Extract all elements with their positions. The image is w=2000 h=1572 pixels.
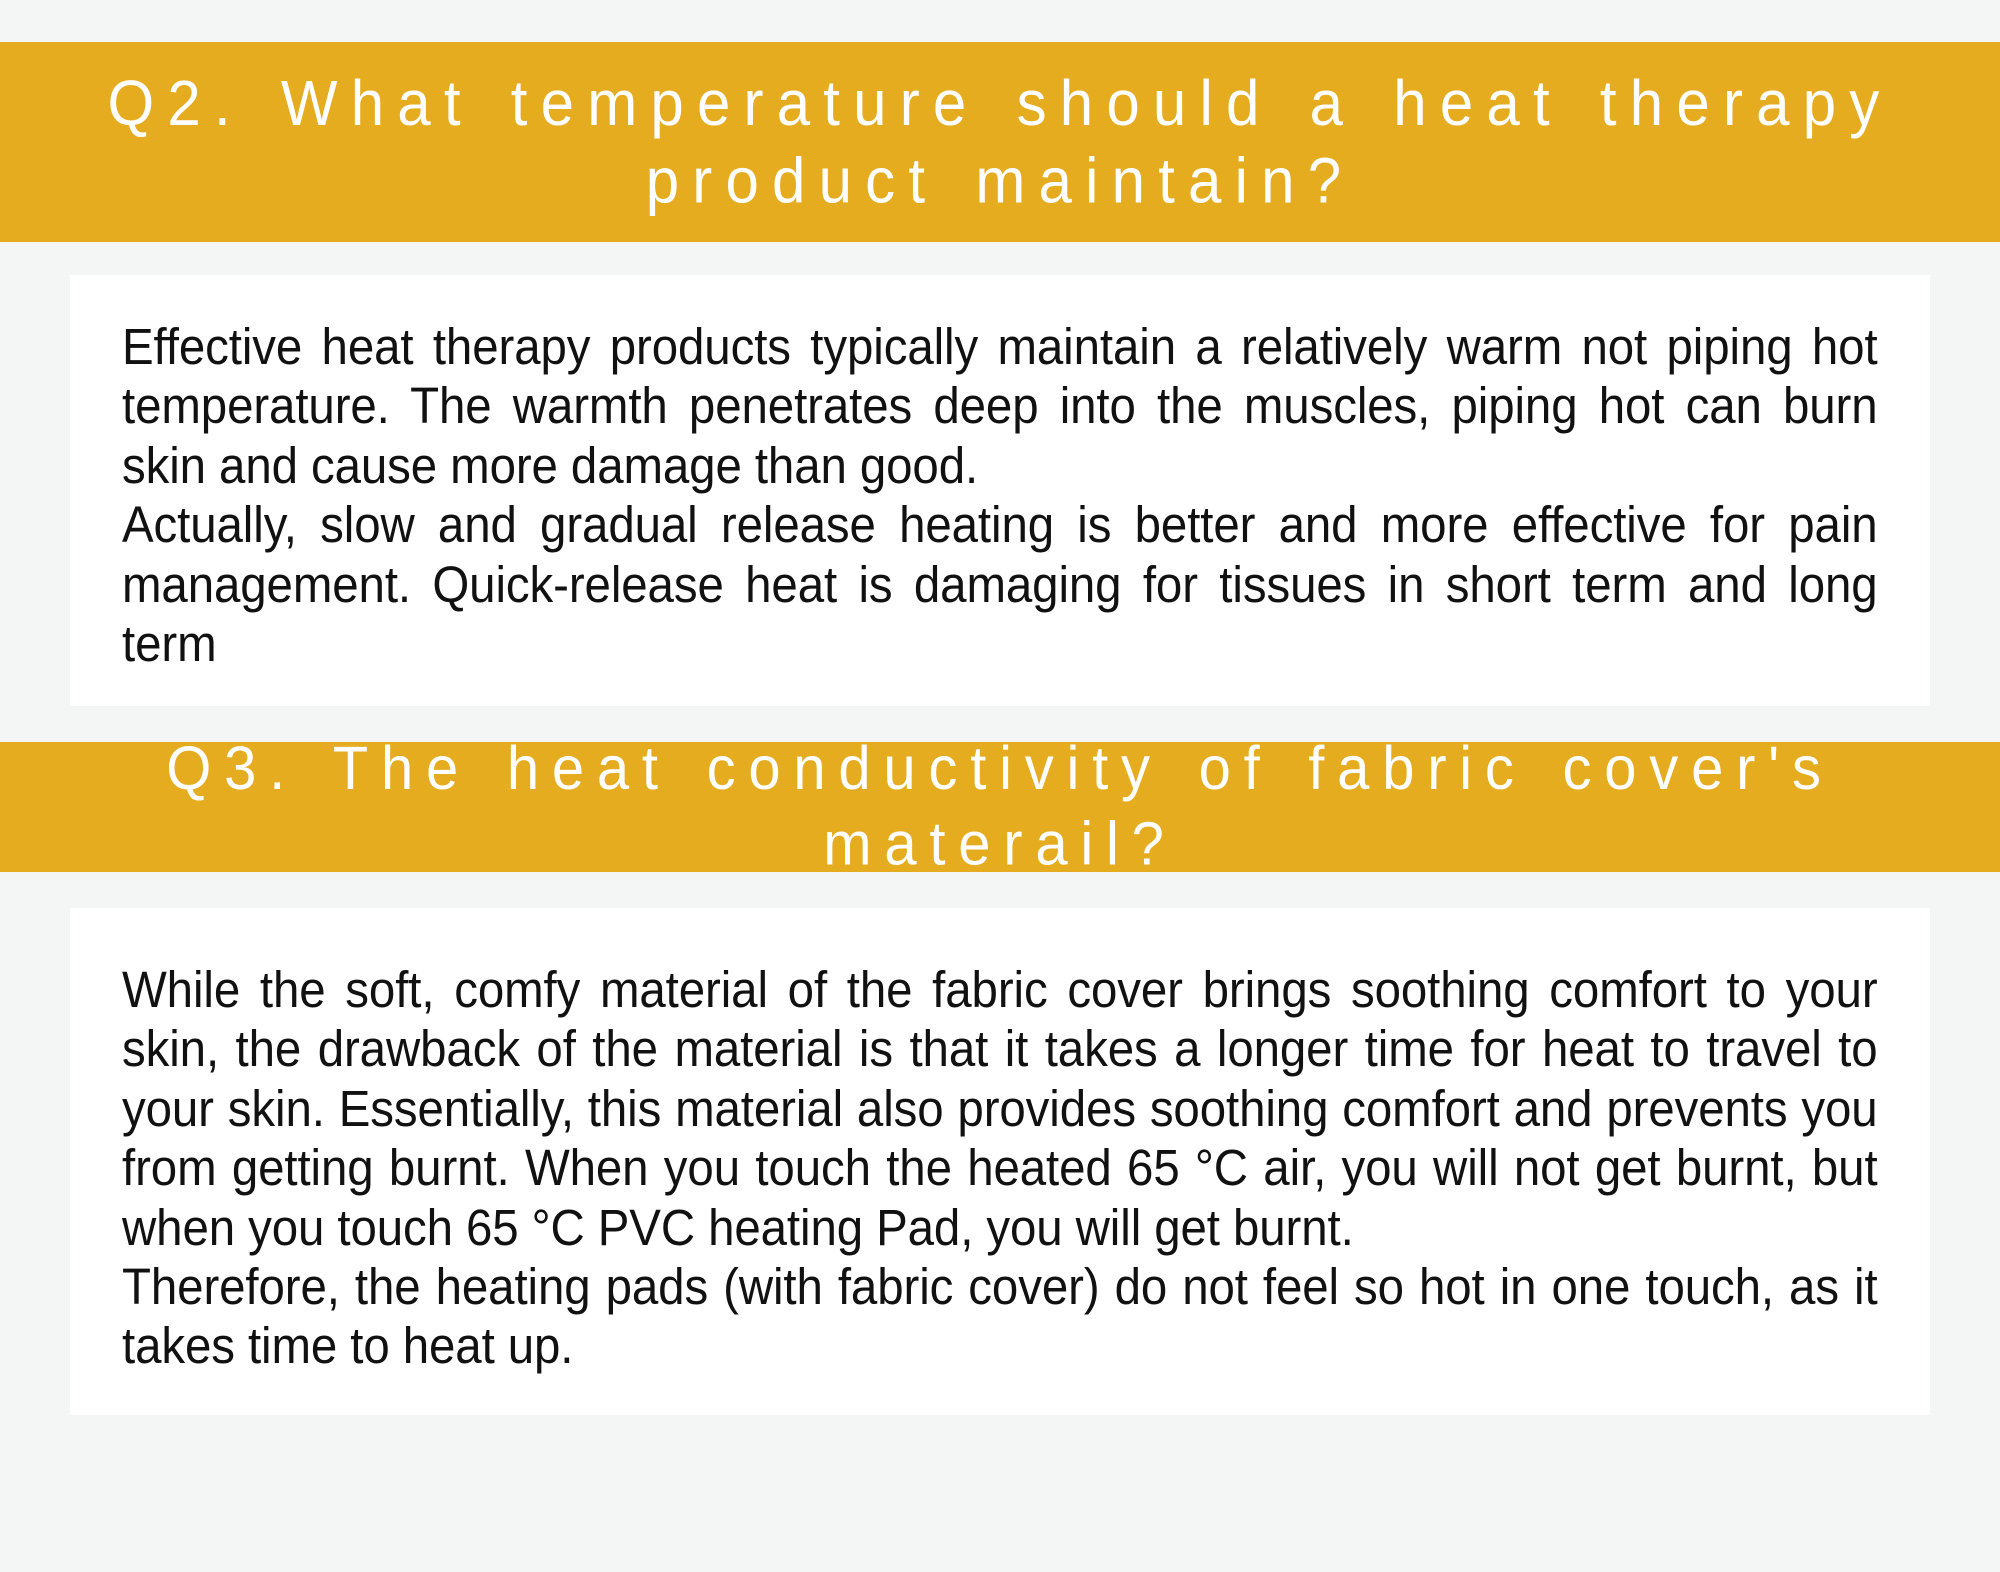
faq-slide: Q2. What temperature should a heat thera… <box>0 0 2000 1572</box>
question-banner-q2: Q2. What temperature should a heat thera… <box>0 42 2000 242</box>
question-title-q2: Q2. What temperature should a heat thera… <box>0 64 2000 219</box>
answer-paragraph: Actually, slow and gradual release heati… <box>122 495 1878 673</box>
answer-paragraph: Therefore, the heating pads (with fabric… <box>122 1257 1878 1376</box>
question-banner-q3: Q3. The heat conductivity of fabric cove… <box>0 742 2000 872</box>
answer-paragraph: Effective heat therapy products typicall… <box>122 317 1878 495</box>
answer-body-q3: While the soft, comfy material of the fa… <box>122 960 1878 1376</box>
answer-body-q2: Effective heat therapy products typicall… <box>122 317 1878 673</box>
answer-panel-q2: Effective heat therapy products typicall… <box>70 275 1930 706</box>
answer-panel-q3: While the soft, comfy material of the fa… <box>70 908 1930 1415</box>
question-title-q3: Q3. The heat conductivity of fabric cove… <box>0 732 2000 882</box>
answer-paragraph: While the soft, comfy material of the fa… <box>122 960 1878 1257</box>
